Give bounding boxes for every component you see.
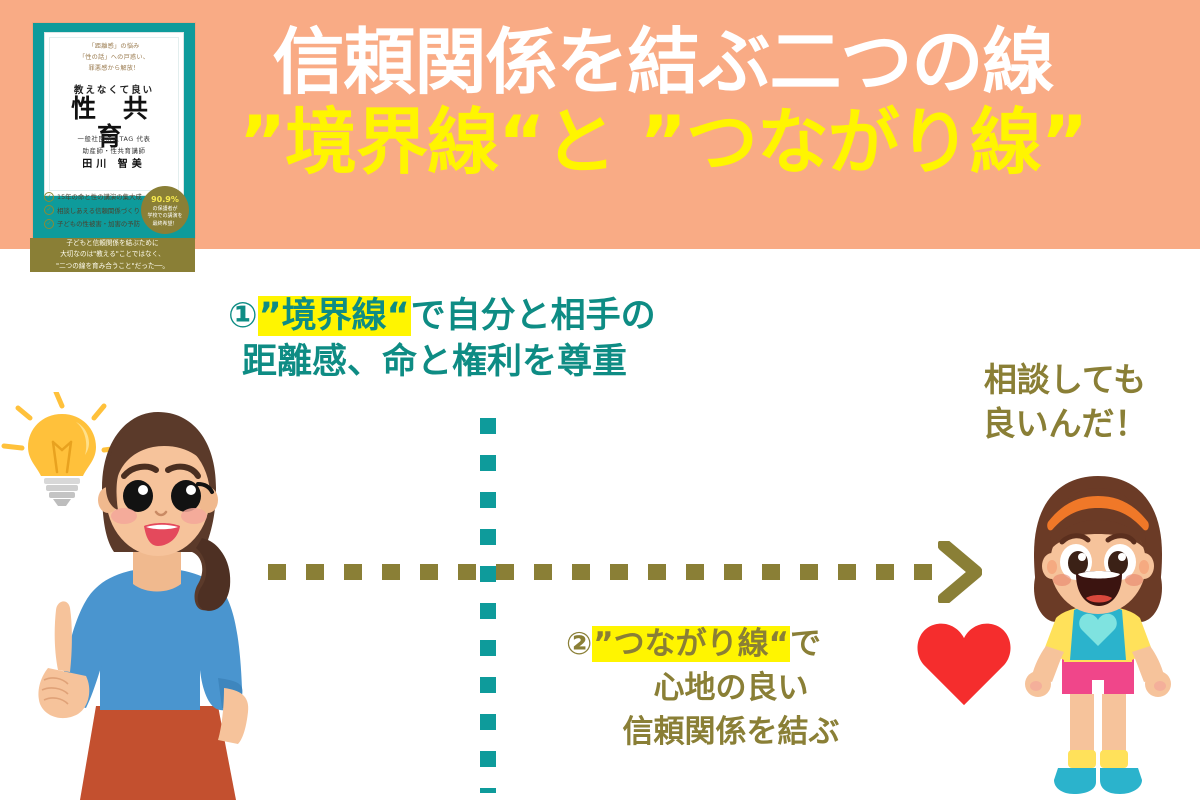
book-bullet-label: 15年の命と性の講演の集大成	[57, 192, 142, 201]
title-line-1: 信頼関係を結ぶ二つの線	[272, 24, 1053, 100]
caption-connection: ②”つながり線“で 心地の良い 信頼関係を結ぶ	[566, 622, 896, 754]
statistic-badge: 90.9% の保護者が学校での講演を最終希望！	[141, 186, 189, 234]
book-banner: 子どもと信頼関係を結ぶために 大切なのは"教える"ことではなく、 "二つの線を育…	[30, 238, 195, 272]
book-lead-copy: 「距離感」の悩み「性の話」への戸惑い、罪悪感から解放！	[51, 42, 177, 75]
speech-line-2: 良いんだ！	[945, 402, 1185, 446]
book-bullet-item: ✓ 子どもの性被害・加害の予防	[44, 219, 156, 229]
heart-icon	[916, 617, 1012, 709]
caption-2-number: ②	[566, 626, 592, 662]
caption-1-line2: 距離感、命と権利を尊重	[242, 339, 656, 385]
arrow-right-icon	[938, 541, 982, 603]
speech-line-1: 相談しても	[945, 358, 1185, 402]
woman-left-eye	[123, 480, 153, 512]
woman-pointing-finger	[55, 601, 72, 672]
badge-percent: %	[171, 195, 179, 204]
badge-caption: の保護者が学校での講演を最終希望！	[147, 206, 182, 228]
caption-boundary: ①”境界線“で自分と相手の 距離感、命と権利を尊重	[228, 293, 656, 385]
woman-illustration	[0, 388, 296, 800]
title-line-2: ”境界線“と ”つながり線”	[239, 104, 1087, 180]
boundary-line-dashed	[480, 418, 496, 793]
book-bullet-item: ✓ 15年の命と性の講演の集大成	[44, 192, 156, 202]
girl-left-shoe	[1054, 768, 1096, 794]
caption-1-highlight: ”境界線“	[258, 296, 411, 336]
girl-right-shoe	[1100, 768, 1142, 794]
speech-text: 相談しても 良いんだ！	[945, 358, 1185, 446]
connection-line-dashed	[268, 564, 948, 580]
book-bullet-label: 相談しあえる信頼関係づくり	[57, 206, 140, 215]
book-author: 田川 智美	[51, 155, 177, 170]
book-bullet-label: 子どもの性被害・加害の予防	[57, 219, 140, 228]
woman-hand	[38, 668, 89, 718]
girl-illustration	[1000, 470, 1196, 800]
badge-value: 90.9	[151, 195, 171, 204]
book-organization: 一般社団法人TAG 代表助産師・性共育講師	[51, 134, 177, 157]
caption-1-rest: で自分と相手の	[411, 296, 656, 336]
check-icon: ✓	[44, 219, 54, 229]
caption-2-highlight: ”つながり線“	[592, 626, 790, 662]
caption-1-number: ①	[228, 296, 258, 336]
caption-2-line3: 信頼関係を結ぶ	[566, 710, 896, 754]
poster-title: 信頼関係を結ぶ二つの線 ”境界線“と ”つながり線”	[238, 24, 1088, 224]
book-bullet-list: ✓ 15年の命と性の講演の集大成 ✓ 相談しあえる信頼関係づくり ✓ 子どもの性…	[44, 192, 156, 233]
book-cover-inner: 「距離感」の悩み「性の話」への戸惑い、罪悪感から解放！ 教えなくて良い 性 共 …	[44, 32, 184, 196]
caption-2-rest: で	[790, 626, 821, 662]
caption-2-line1: ②”つながり線“で	[566, 622, 896, 666]
caption-2-line2: 心地の良い	[566, 666, 896, 710]
book-cover: 「距離感」の悩み「性の話」への戸惑い、罪悪感から解放！ 教えなくて良い 性 共 …	[33, 23, 195, 238]
book-banner-line: 大切なのは"教える"ことではなく、	[60, 249, 165, 260]
book-bullet-item: ✓ 相談しあえる信頼関係づくり	[44, 205, 156, 215]
poster-canvas: 「距離感」の悩み「性の話」への戸惑い、罪悪感から解放！ 教えなくて良い 性 共 …	[0, 0, 1200, 800]
check-icon: ✓	[44, 205, 54, 215]
woman-skirt	[80, 706, 236, 800]
book-banner-line: "二つの線を育み合うこと"だった──。	[56, 261, 169, 272]
book-banner-line: 子どもと信頼関係を結ぶために	[66, 238, 158, 249]
check-icon: ✓	[44, 192, 54, 202]
badge-number: 90.9%	[151, 192, 179, 205]
